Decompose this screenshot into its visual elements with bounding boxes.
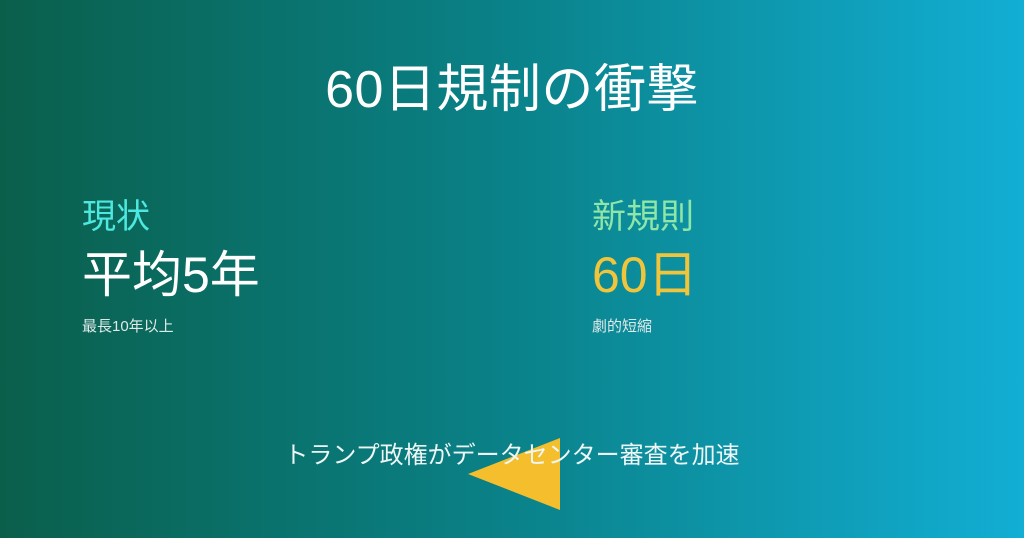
comparison-block-current: 現状 平均5年 最長10年以上 bbox=[82, 196, 260, 337]
current-label: 現状 bbox=[82, 196, 260, 239]
slide-canvas: 60日規制の衝撃 現状 平均5年 最長10年以上 新規則 60日 劇的短縮 トラ… bbox=[0, 0, 1024, 538]
slide-caption: トランプ政権がデータセンター審査を加速 bbox=[0, 440, 1024, 471]
comparison-block-new-rule: 新規則 60日 劇的短縮 bbox=[592, 196, 698, 337]
new-rule-note: 劇的短縮 bbox=[592, 316, 698, 337]
new-rule-value: 60日 bbox=[592, 243, 698, 308]
current-value: 平均5年 bbox=[82, 243, 260, 308]
page-title: 60日規制の衝撃 bbox=[0, 62, 1024, 119]
new-rule-label: 新規則 bbox=[592, 196, 698, 239]
comparison-section: 現状 平均5年 最長10年以上 新規則 60日 劇的短縮 bbox=[0, 196, 1024, 366]
current-note: 最長10年以上 bbox=[82, 316, 260, 337]
